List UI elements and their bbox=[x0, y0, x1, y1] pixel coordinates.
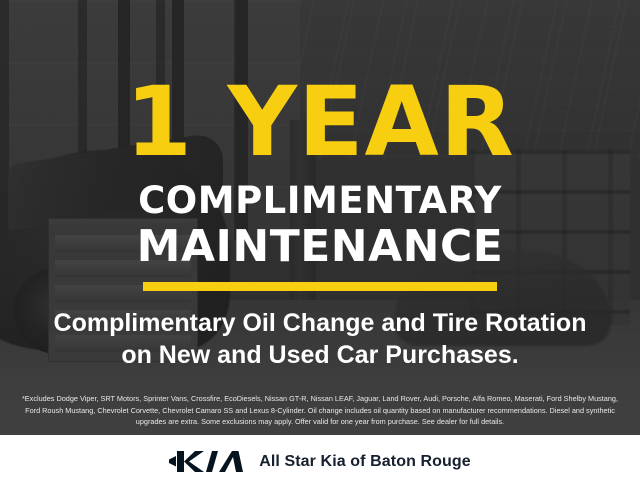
kia-logo bbox=[169, 451, 243, 472]
banner-content: 1 YEAR COMPLIMENTARY MAINTENANCE Complim… bbox=[0, 0, 640, 488]
subheadline-line-2: on New and Used Car Purchases. bbox=[54, 339, 587, 371]
headline-year: 1 YEAR bbox=[125, 78, 515, 166]
promo-banner: 1 YEAR COMPLIMENTARY MAINTENANCE Complim… bbox=[0, 0, 640, 488]
footer-brand-group[interactable]: All Star Kia of Baton Rouge bbox=[169, 451, 471, 472]
subheadline: Complimentary Oil Change and Tire Rotati… bbox=[54, 307, 587, 371]
headline-maintenance: MAINTENANCE bbox=[137, 225, 504, 269]
disclaimer-fine-print: *Excludes Dodge Viper, SRT Motors, Sprin… bbox=[20, 393, 620, 428]
yellow-divider-rule bbox=[143, 282, 497, 291]
headline-complimentary: COMPLIMENTARY bbox=[138, 182, 502, 219]
dealer-name: All Star Kia of Baton Rouge bbox=[259, 453, 471, 471]
footer-bar: All Star Kia of Baton Rouge bbox=[0, 435, 640, 488]
subheadline-line-1: Complimentary Oil Change and Tire Rotati… bbox=[54, 307, 587, 339]
